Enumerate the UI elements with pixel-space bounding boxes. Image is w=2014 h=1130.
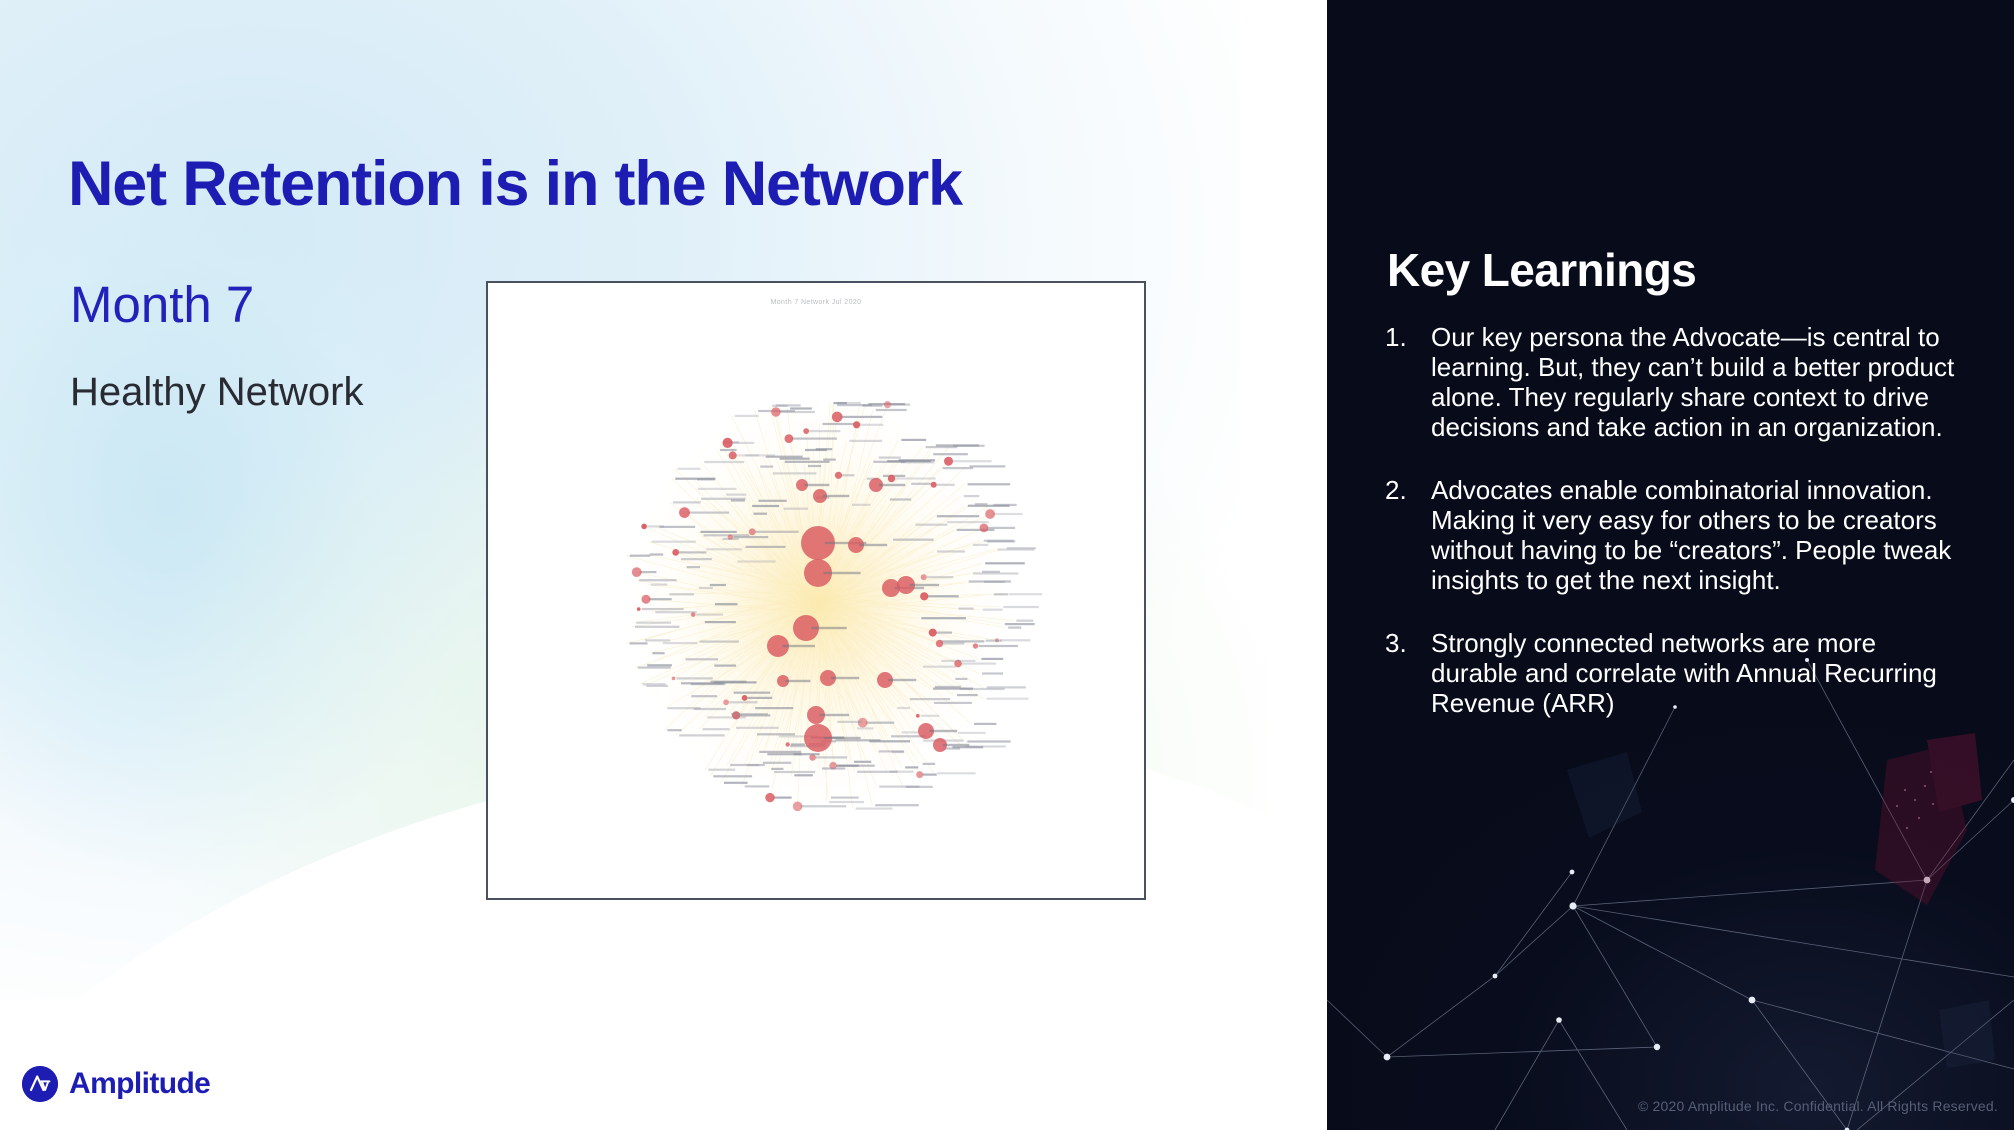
key-learnings-panel: Key Learnings 1. Our key persona the Adv…: [1327, 0, 2014, 1130]
list-item: 1. Our key persona the Advocate—is centr…: [1385, 322, 1985, 442]
list-item-number: 2.: [1385, 475, 1431, 595]
list-item: 3. Strongly connected networks are more …: [1385, 628, 1985, 718]
slide-subtitle-month: Month 7: [70, 275, 254, 334]
amplitude-logo-icon: [22, 1066, 58, 1102]
key-learnings-heading: Key Learnings: [1387, 243, 1696, 297]
left-content-panel: Net Retention is in the Network Month 7 …: [0, 0, 1327, 1130]
slide-subtitle-state: Healthy Network: [70, 370, 363, 415]
network-graph-svg: [488, 283, 1144, 898]
amplitude-logo: Amplitude: [22, 1066, 210, 1102]
key-learnings-list: 1. Our key persona the Advocate—is centr…: [1385, 322, 1985, 751]
slide: Net Retention is in the Network Month 7 …: [0, 0, 2014, 1130]
amplitude-logo-text: Amplitude: [69, 1067, 210, 1101]
copyright-footer: © 2020 Amplitude Inc. Confidential. All …: [1638, 1098, 1998, 1114]
list-item-number: 3.: [1385, 628, 1431, 718]
network-graph-canvas: Month 7 Network Jul 2020: [488, 283, 1144, 898]
network-graph-frame: Month 7 Network Jul 2020: [486, 281, 1146, 900]
list-item-text: Strongly connected networks are more dur…: [1431, 628, 1961, 718]
list-item-number: 1.: [1385, 322, 1431, 442]
list-item-text: Our key persona the Advocate—is central …: [1431, 322, 1961, 442]
list-item-text: Advocates enable combinatorial innovatio…: [1431, 475, 1961, 595]
list-item: 2. Advocates enable combinatorial innova…: [1385, 475, 1985, 595]
slide-title: Net Retention is in the Network: [68, 148, 962, 220]
